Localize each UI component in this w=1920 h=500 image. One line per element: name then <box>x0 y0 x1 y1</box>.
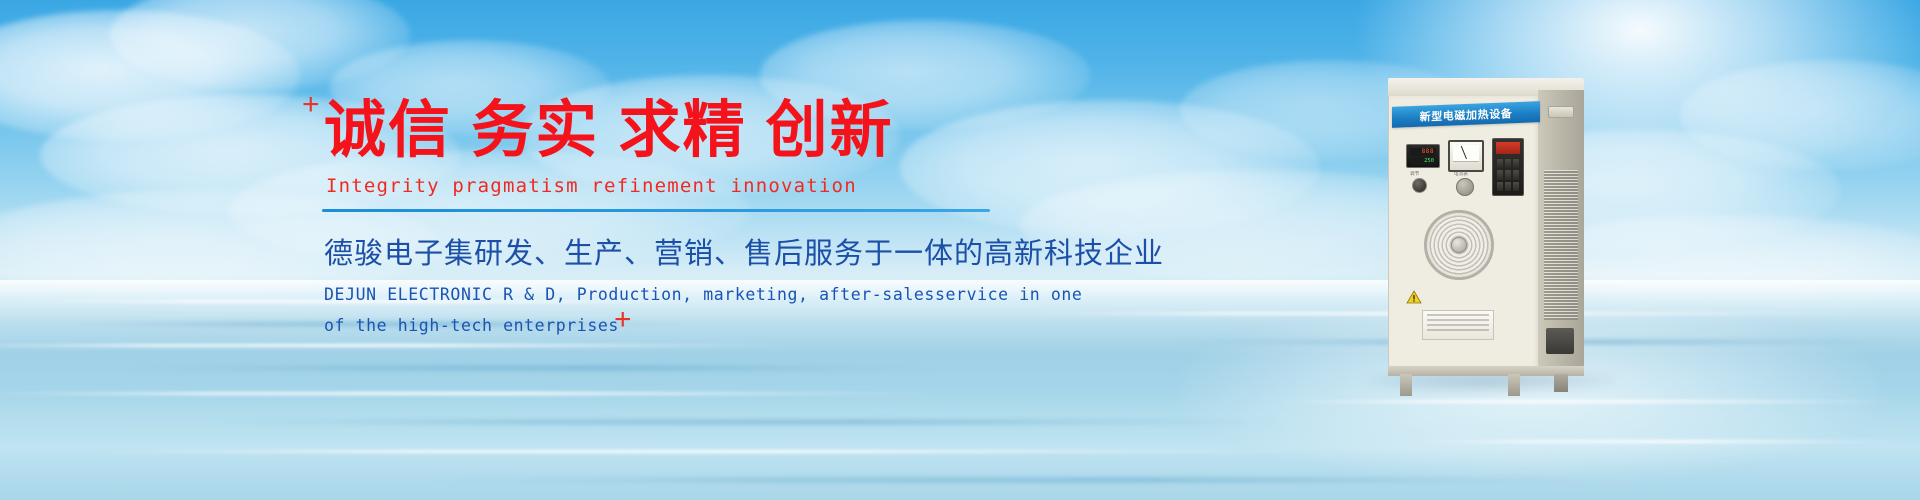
hero-banner: + + 诚信 务实 求精 创新 Integrity pragmatism ref… <box>0 0 1920 500</box>
keypad-button[interactable] <box>1497 182 1503 191</box>
keypad-button[interactable] <box>1505 159 1511 168</box>
machine-keypad-display <box>1496 142 1520 154</box>
headline-chinese: 诚信 务实 求精 创新 <box>324 96 1018 165</box>
product-machine: 新型电磁加热设备 888 250 调节 <box>1388 78 1584 378</box>
divider-rule <box>322 209 990 212</box>
wave-line <box>60 450 1360 453</box>
keypad-button[interactable] <box>1513 159 1519 168</box>
plus-decor-icon: + <box>302 90 320 120</box>
wave-line <box>420 478 1620 482</box>
machine-leg-rear <box>1554 374 1568 392</box>
machine-control-label-right: 电流表 <box>1454 171 1468 177</box>
machine-leg-left <box>1400 374 1412 396</box>
wave-line <box>0 392 960 395</box>
machine-display-secondary: 250 <box>1410 158 1436 165</box>
subtitle-chinese: 德骏电子集研发、生产、营销、售后服务于一体的高新科技企业 <box>324 230 1018 272</box>
keypad-button[interactable] <box>1513 170 1519 179</box>
spec-plate-line <box>1427 314 1489 316</box>
machine-keypad[interactable] <box>1492 138 1524 196</box>
machine-brand-label-text: 新型电磁加热设备 <box>1420 105 1513 125</box>
machine-vent-grille <box>1544 170 1578 320</box>
subtitle-english-line-1: DEJUN ELECTRONIC R & D, Production, mark… <box>324 280 1018 311</box>
wave-line <box>120 366 940 370</box>
machine-analog-meter <box>1448 140 1484 172</box>
machine-knob-black[interactable] <box>1412 178 1427 193</box>
machine-side-port <box>1546 328 1574 354</box>
machine-meter-needle <box>1461 146 1467 159</box>
machine-digital-display: 888 250 <box>1406 144 1440 168</box>
spec-plate-line <box>1427 324 1489 326</box>
headline-english: Integrity pragmatism refinement innovati… <box>326 175 1018 197</box>
banner-copy: 诚信 务实 求精 创新 Integrity pragmatism refinem… <box>318 96 1018 341</box>
spec-plate-line <box>1427 319 1489 321</box>
keypad-button[interactable] <box>1505 170 1511 179</box>
machine-meter-face <box>1453 145 1479 162</box>
wave-line <box>200 420 1300 424</box>
wave-line <box>1260 400 1920 403</box>
subtitle-english-line-2: of the high-tech enterprises <box>324 311 1018 342</box>
machine-side-handle <box>1548 106 1574 118</box>
machine-display-primary: 888 <box>1410 148 1436 156</box>
machine-leg-right <box>1508 374 1520 396</box>
spec-plate-line <box>1427 329 1489 331</box>
machine-control-label-left: 调节 <box>1410 171 1419 177</box>
keypad-button[interactable] <box>1497 159 1503 168</box>
keypad-button[interactable] <box>1497 170 1503 179</box>
keypad-button[interactable] <box>1513 182 1519 191</box>
wave-line <box>1400 440 1920 443</box>
machine-fan-hub <box>1451 237 1467 253</box>
machine-warning-icon <box>1406 290 1422 304</box>
machine-knob-silver[interactable] <box>1456 178 1474 196</box>
machine-fan-grille <box>1424 210 1494 280</box>
machine-spec-plate <box>1422 310 1494 340</box>
machine-keypad-buttons[interactable] <box>1497 159 1519 191</box>
keypad-button[interactable] <box>1505 182 1511 191</box>
